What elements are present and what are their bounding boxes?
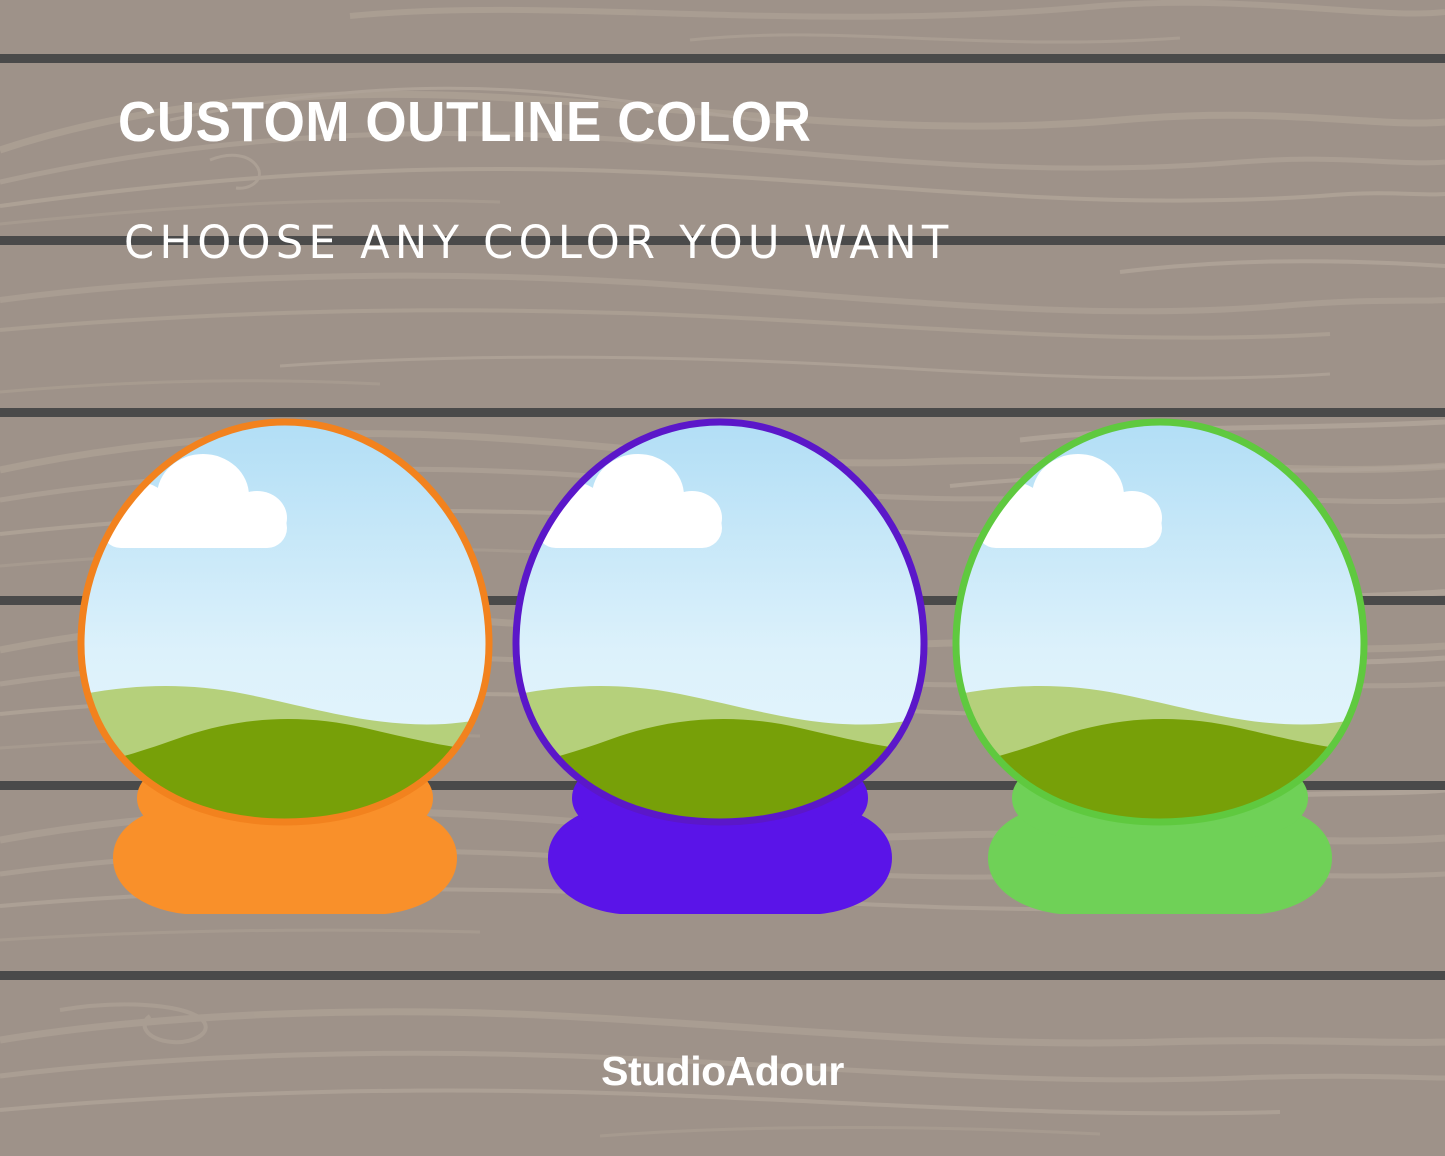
snow-globe-graphic-green: [930, 398, 1390, 958]
globe-dome-green: [930, 398, 1390, 858]
snow-globe-orange[interactable]: [55, 398, 515, 958]
page-subtitle: CHOOSE ANY COLOR YOU WANT: [124, 216, 954, 269]
snow-globe-graphic-purple: [490, 398, 950, 958]
snow-globe-purple[interactable]: [490, 398, 950, 958]
snow-globe-green[interactable]: [930, 398, 1390, 958]
poster-canvas: CUSTOM OUTLINE COLOR CHOOSE ANY COLOR YO…: [0, 0, 1445, 1156]
snow-globe-graphic-orange: [55, 398, 515, 958]
globe-dome-purple: [490, 398, 950, 858]
page-title: CUSTOM OUTLINE COLOR: [118, 89, 811, 155]
brand-watermark: StudioAdour: [0, 1048, 1445, 1095]
globe-dome-orange: [55, 398, 515, 858]
